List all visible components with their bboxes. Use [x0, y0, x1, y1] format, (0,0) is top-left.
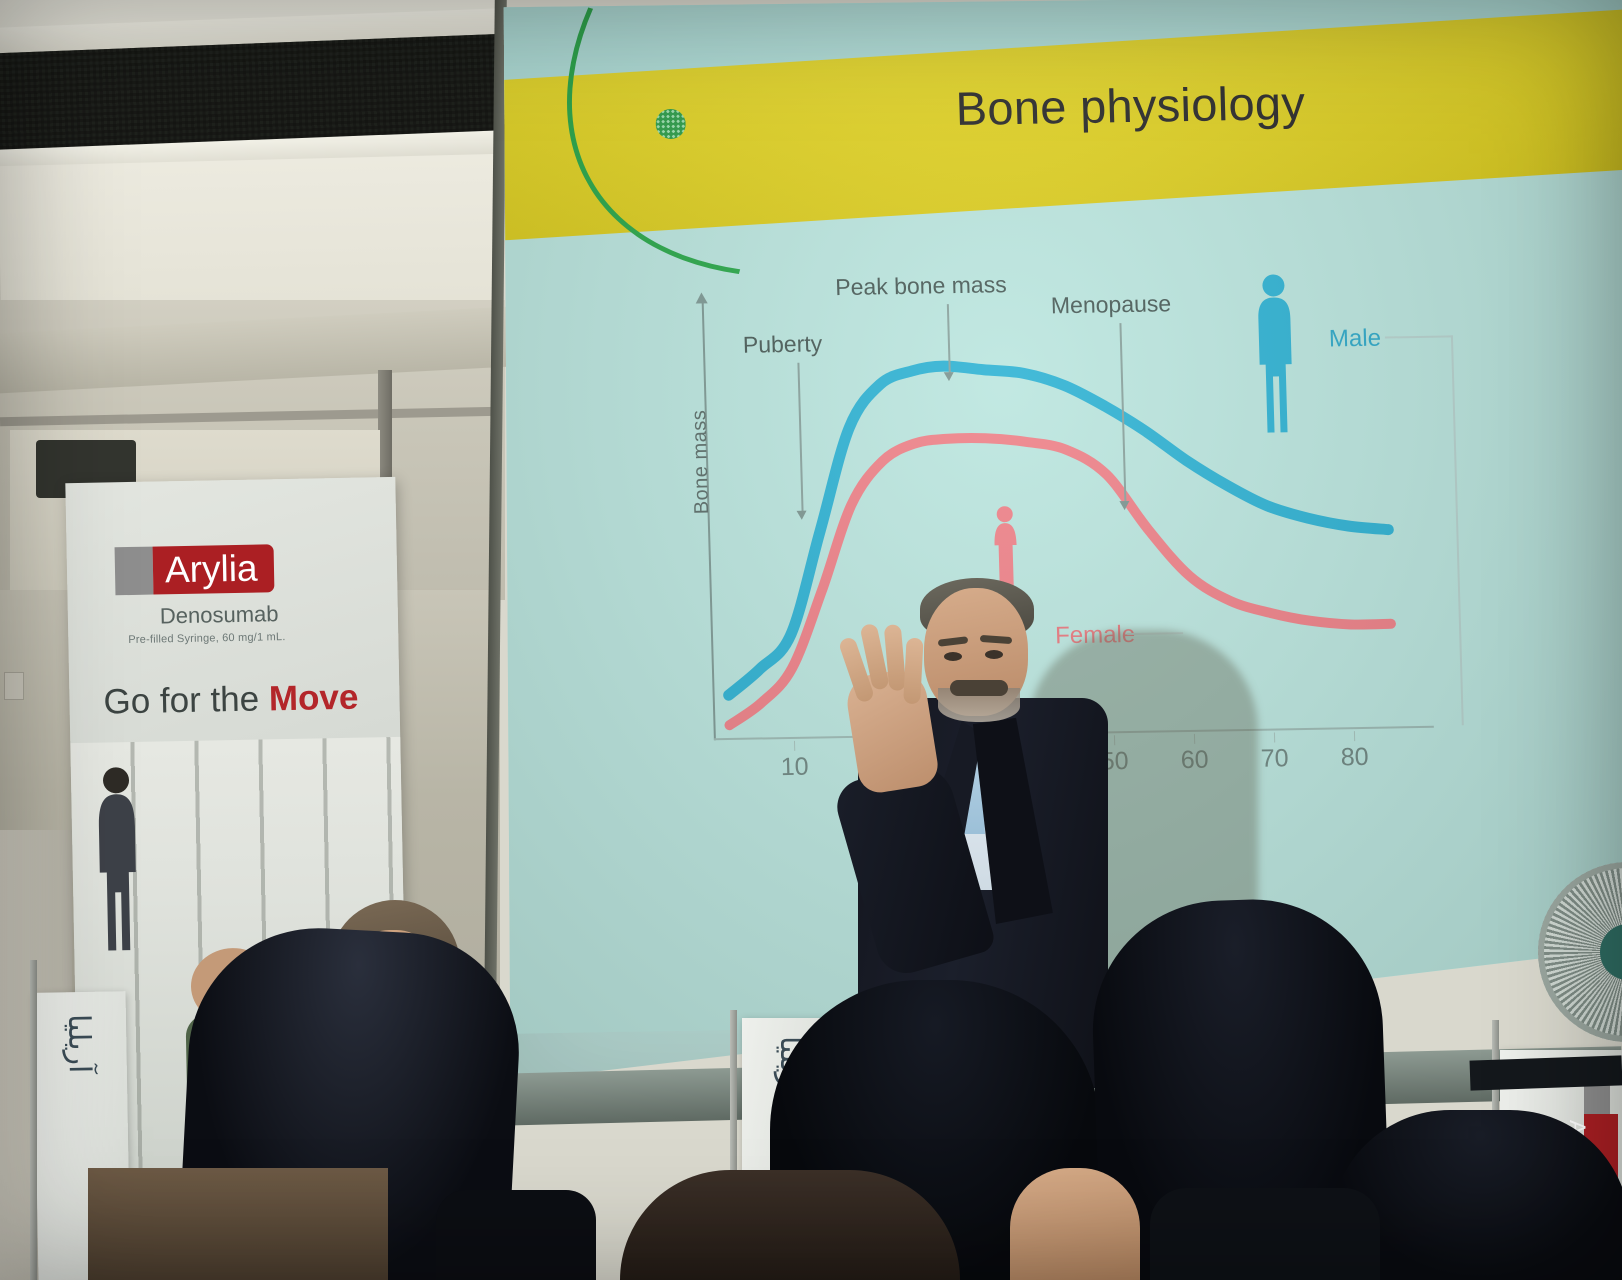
chair-right — [1150, 1188, 1380, 1280]
tagline-accent: Move — [268, 678, 358, 719]
mini-banner-left-pole — [30, 960, 37, 1280]
speaker-eye-left — [944, 652, 962, 661]
brand-name: Arylia — [153, 544, 274, 594]
presentation-detail: Pre-filled Syringe, 60 mg/1 mL. — [128, 631, 285, 646]
room-rail — [1470, 1055, 1622, 1090]
standing-person-photo — [89, 764, 147, 955]
speaker-moustache — [950, 680, 1008, 696]
audience-member-front-hand — [1010, 1168, 1140, 1280]
chair-left — [436, 1190, 596, 1280]
arylia-logo: Arylia — [115, 544, 274, 595]
table — [88, 1168, 388, 1280]
male-silhouette-icon — [1251, 272, 1300, 438]
logo-square-icon — [115, 547, 154, 596]
speaker-eye-right — [985, 650, 1003, 659]
annotation-menopause: Menopause — [1051, 290, 1172, 319]
photo-scene: Bone physiology Bone mass 10203040506070… — [0, 0, 1622, 1280]
annotation-peak-bone-mass: Peak bone mass — [835, 271, 1007, 301]
finger-4 — [903, 638, 923, 705]
slide-title: Bone physiology — [870, 73, 1391, 137]
annotation-menopause-arrow-icon — [1119, 501, 1129, 510]
annotation-puberty-arrow-icon — [797, 511, 807, 520]
annotation-peak-arrow-icon — [944, 372, 954, 381]
mini-banner-left-text: آریلیا — [61, 1014, 97, 1074]
light-switch[interactable] — [4, 672, 24, 700]
speaker-raised-hand — [843, 666, 940, 795]
audience-member-front — [620, 1170, 960, 1280]
banner-tagline: Go for the Move — [103, 678, 359, 723]
generic-drug-name: Denosumab — [160, 601, 279, 629]
tagline-prefix: Go for the — [103, 679, 269, 721]
legend-label-male: Male — [1329, 325, 1382, 354]
annotation-puberty: Puberty — [743, 330, 823, 358]
